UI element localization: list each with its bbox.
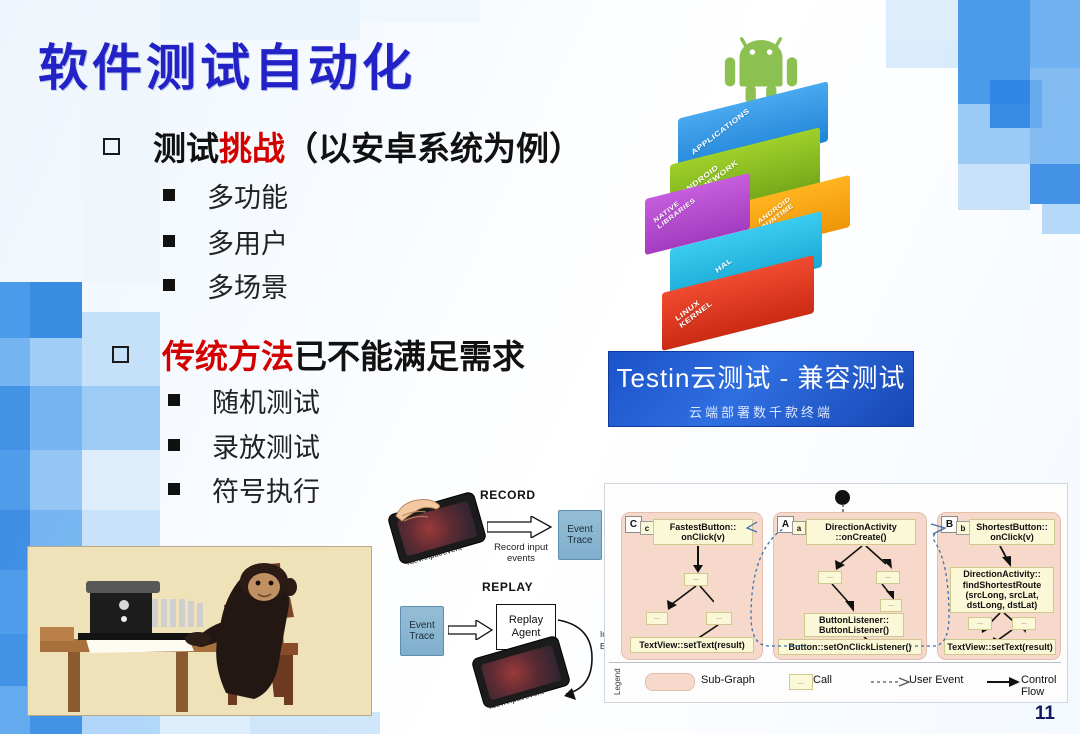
subgraph-c: C c FastestButton::onClick(v) ... ... ..…	[621, 512, 763, 660]
bullet-level1-text: 测试挑战（以安卓系统为例）	[153, 122, 582, 170]
bullet-level2-symbolic: 符号执行	[168, 470, 320, 509]
node-call-placeholder: ...	[968, 617, 992, 630]
edge-control-flow	[654, 586, 714, 614]
bullet-level2-label: 录放测试	[212, 426, 320, 465]
bullet-level2-label: 多功能	[207, 176, 288, 215]
hollow-square-bullet-icon	[103, 138, 120, 155]
chimpanzee-typewriter-photo	[27, 546, 372, 716]
filled-square-bullet-icon	[168, 439, 180, 451]
node-call-placeholder: ...	[1012, 617, 1036, 630]
bullet-level2-multifunction: 多功能	[163, 176, 288, 215]
event-trace-replay: EventTrace	[400, 606, 444, 656]
node-entry: DirectionActivity::onCreate()	[806, 519, 916, 545]
legend-item-label: Sub-Graph	[701, 674, 755, 686]
hollow-square-bullet-icon	[112, 346, 129, 363]
bullet-seg-2-red: 挑战	[219, 132, 285, 168]
inject-events-loop-arrow	[552, 614, 608, 702]
event-trace-record: EventTrace	[558, 510, 602, 560]
bullet-level2-label: 多场景	[207, 266, 288, 305]
testin-banner-subtitle: 云端部署数千款终端	[689, 402, 833, 421]
phone-screen	[480, 644, 561, 700]
node-call-placeholder: ...	[880, 599, 902, 612]
legend-user-event-arrow-icon	[871, 676, 911, 688]
node-call-placeholder: ...	[684, 573, 708, 586]
bullet-seg-2: 已不能满足需求	[294, 340, 525, 376]
node-call-placeholder: ...	[818, 571, 842, 584]
bullet-level2-multiuser: 多用户	[163, 222, 288, 261]
filled-square-bullet-icon	[163, 235, 175, 247]
legend-title: Legend	[613, 668, 622, 695]
node-call-placeholder: ...	[706, 612, 732, 625]
filled-square-bullet-icon	[168, 483, 180, 495]
user-event-edge-a-to-b	[905, 520, 967, 656]
edge-control-flow	[692, 546, 704, 574]
filled-square-bullet-icon	[168, 394, 180, 406]
bullet-level1-traditional: 传统方法已不能满足需求	[112, 330, 525, 378]
legend-item-label: User Event	[909, 674, 963, 686]
start-node-dot	[835, 490, 850, 505]
node-entry: FastestButton::onClick(v)	[653, 519, 753, 545]
legend-subgraph-swatch	[645, 673, 695, 691]
bullet-level2-recordreplay: 录放测试	[168, 426, 320, 465]
testin-cloud-test-banner: Testin云测试 - 兼容测试 云端部署数千款终端	[608, 351, 914, 427]
bullet-level2-label: 符号执行	[212, 470, 320, 509]
node-entry: ShortestButton::onClick(v)	[969, 519, 1055, 545]
record-heading: RECORD	[480, 488, 536, 502]
slide-canvas: 软件测试自动化 测试挑战（以安卓系统为例） 多功能 多用户 多场景 传统方法已不…	[0, 0, 1080, 734]
page-title: 软件测试自动化	[38, 28, 416, 100]
record-arrow	[487, 516, 553, 538]
bullet-level2-label: 多用户	[207, 222, 288, 261]
call-graph-figure: C c FastestButton::onClick(v) ... ... ..…	[604, 483, 1068, 703]
bullet-level1-challenges: 测试挑战（以安卓系统为例）	[103, 122, 582, 170]
hand-tap-icon	[392, 494, 444, 528]
bullet-level2-multiscene: 多场景	[163, 266, 288, 305]
legend-call-swatch: ...	[789, 674, 813, 690]
legend-control-flow-arrow-icon	[987, 676, 1021, 688]
record-arrow-caption: Record inputevents	[485, 542, 557, 565]
node-exit: TextView::setText(result)	[630, 637, 754, 653]
bullet-level2-label: 随机测试	[212, 381, 320, 420]
replay-arrow	[448, 620, 494, 640]
bullet-seg-1-red: 传统方法	[162, 340, 294, 376]
node-mid: ButtonListener::ButtonListener()	[804, 613, 904, 637]
record-replay-diagram: RECORD /dev/input/event* Record inputeve…	[392, 488, 617, 708]
filled-square-bullet-icon	[163, 279, 175, 291]
bullet-level1-text: 传统方法已不能满足需求	[162, 330, 525, 378]
android-architecture-stack-image: APPLICATIONS ANDROID FRAMEWORK ANDROID R…	[640, 28, 890, 348]
chimpanzee-typewriter-illustration	[28, 547, 371, 715]
bullet-seg-3: （以安卓系统为例）	[285, 132, 582, 168]
node-call-placeholder: ...	[876, 571, 900, 584]
replay-heading: REPLAY	[482, 580, 533, 594]
user-event-edge-a-to-c	[745, 520, 809, 656]
edge-control-flow	[820, 546, 904, 572]
legend: Legend Sub-Graph ... Call User Event Con…	[609, 662, 1061, 699]
bullet-seg-1: 测试	[153, 132, 219, 168]
page-number: 11	[1035, 703, 1055, 725]
edge-control-flow	[830, 584, 860, 614]
legend-item-label: Control Flow	[1021, 674, 1061, 698]
filled-square-bullet-icon	[163, 189, 175, 201]
edge-control-flow	[996, 546, 1016, 568]
bullet-level2-randomtest: 随机测试	[168, 381, 320, 420]
event-tag: c	[640, 521, 654, 535]
legend-item-label: Call	[813, 674, 832, 686]
node-call-placeholder: ...	[646, 612, 668, 625]
testin-banner-title: Testin云测试 - 兼容测试	[616, 358, 905, 395]
